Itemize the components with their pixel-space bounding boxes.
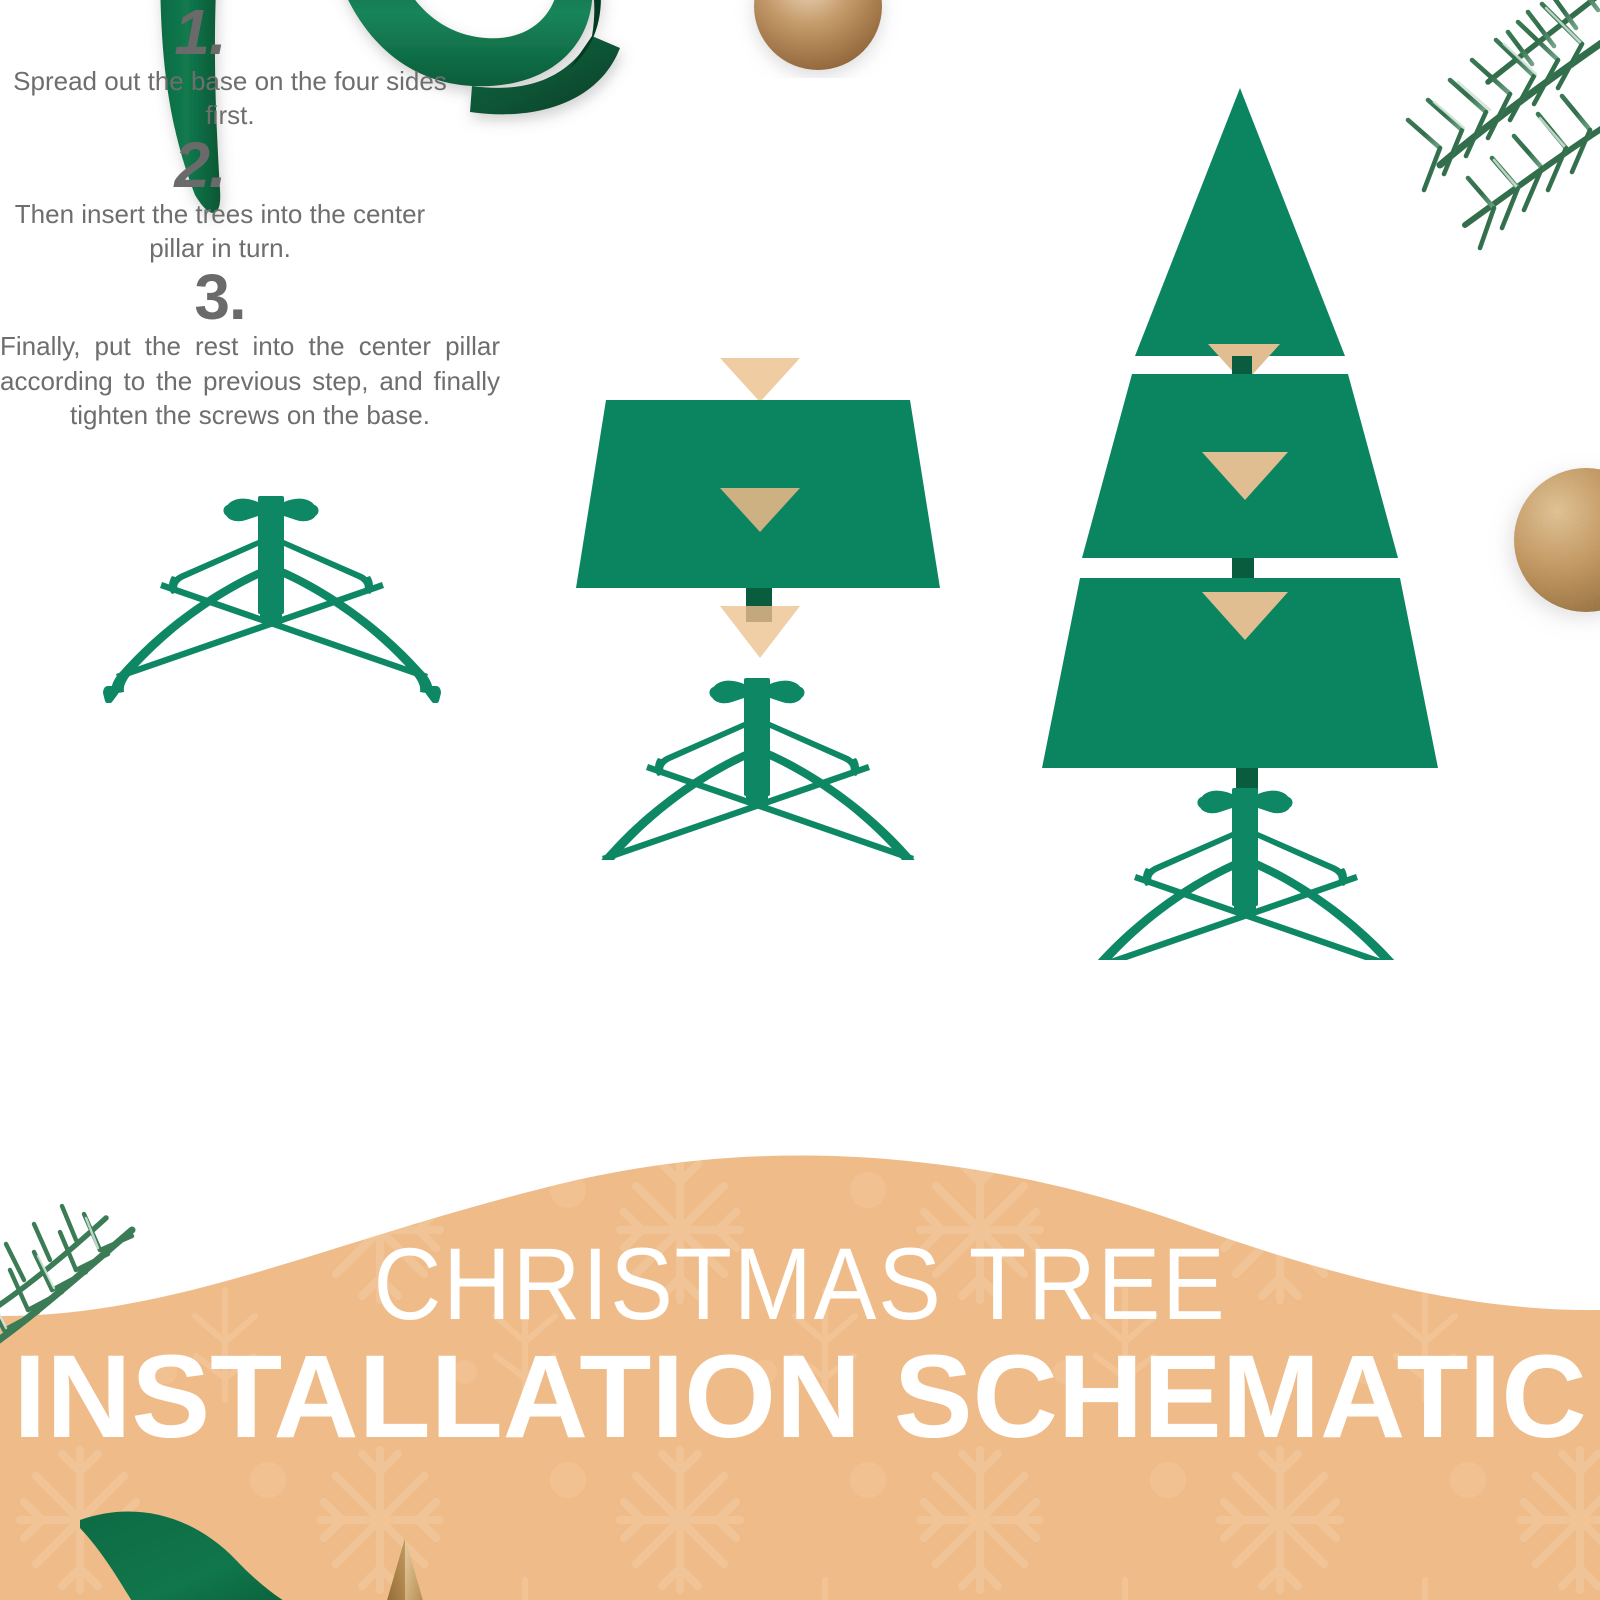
insert-arrow-top — [720, 358, 800, 402]
step3-illustration-full-tree — [1040, 80, 1460, 960]
step1-illustration-stand — [72, 488, 472, 703]
peg-a — [1232, 356, 1252, 374]
step2-illustration-section-and-stand — [548, 340, 968, 860]
step-3-number: 3. — [0, 265, 440, 329]
schematic-poster: 1. Spread out the base on the four sides… — [0, 0, 1600, 1600]
steps-illustrations: 1. Spread out the base on the four sides… — [0, 0, 1600, 1160]
step-1-caption: Spread out the base on the four sides fi… — [0, 64, 460, 133]
step-1-number: 1. — [0, 0, 400, 64]
tree-section-top — [1135, 88, 1345, 356]
step-3-caption: Finally, put the rest into the center pi… — [0, 329, 500, 432]
bottom-wave-band — [0, 1120, 1600, 1600]
step-2-caption: Then insert the trees into the center pi… — [0, 197, 440, 266]
peg-b — [1232, 558, 1254, 578]
step-2-number: 2. — [0, 133, 400, 197]
